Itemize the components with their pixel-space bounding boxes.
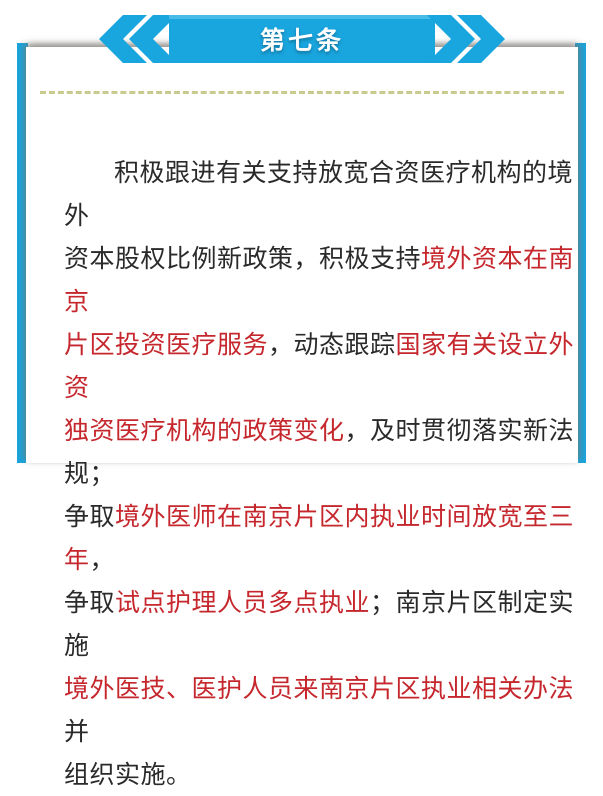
article-card-page: 积极跟进有关支持放宽合资医疗机构的境外资本股权比例新政策，积极支持境外资本在南京… <box>0 0 603 463</box>
dashed-divider <box>40 91 564 94</box>
body-text-run: 争取 <box>64 502 115 531</box>
article-line: 积极跟进有关支持放宽合资医疗机构的境外 <box>64 151 594 237</box>
article-line: 争取境外医师在南京片区内执业时间放宽至三年， <box>64 495 594 581</box>
banner-highlight <box>169 15 435 19</box>
highlighted-text-run: 片区投资医疗服务 <box>64 330 268 359</box>
body-text-run: 并 <box>64 717 90 746</box>
body-text-run: ，动态跟踪 <box>268 330 396 359</box>
article-body-text: 积极跟进有关支持放宽合资医疗机构的境外资本股权比例新政策，积极支持境外资本在南京… <box>64 151 594 796</box>
article-line: 片区投资医疗服务，动态跟踪国家有关设立外资 <box>64 323 594 409</box>
article-line: 组织实施。 <box>64 753 594 796</box>
body-text-run: ， <box>90 545 116 574</box>
article-line: 独资医疗机构的政策变化，及时贯彻落实新法规； <box>64 409 594 495</box>
article-title-banner: 第七条 <box>99 12 505 66</box>
body-text-run: 组织实施。 <box>64 760 192 789</box>
body-text-run: 资本股权比例新政策，积极支持 <box>64 244 421 273</box>
body-text-run: 争取 <box>64 588 115 617</box>
article-line: 争取试点护理人员多点执业；南京片区制定实施 <box>64 581 594 667</box>
article-line: 资本股权比例新政策，积极支持境外资本在南京 <box>64 237 594 323</box>
body-text-run: 积极跟进有关支持放宽合资医疗机构的境外 <box>64 158 573 230</box>
highlighted-text-run: 试点护理人员多点执业 <box>115 588 370 617</box>
highlighted-text-run: 独资医疗机构的政策变化 <box>64 416 345 445</box>
highlighted-text-run: 境外医师在南京片区内执业时间放宽至三年 <box>64 502 574 574</box>
article-line: 境外医技、医护人员来南京片区执业相关办法并 <box>64 667 594 753</box>
banner-shape <box>99 12 505 66</box>
highlighted-text-run: 境外医技、医护人员来南京片区执业相关办法 <box>64 674 574 703</box>
content-card: 积极跟进有关支持放宽合资医疗机构的境外资本股权比例新政策，积极支持境外资本在南京… <box>26 47 578 463</box>
banner-center-bar <box>169 15 435 63</box>
